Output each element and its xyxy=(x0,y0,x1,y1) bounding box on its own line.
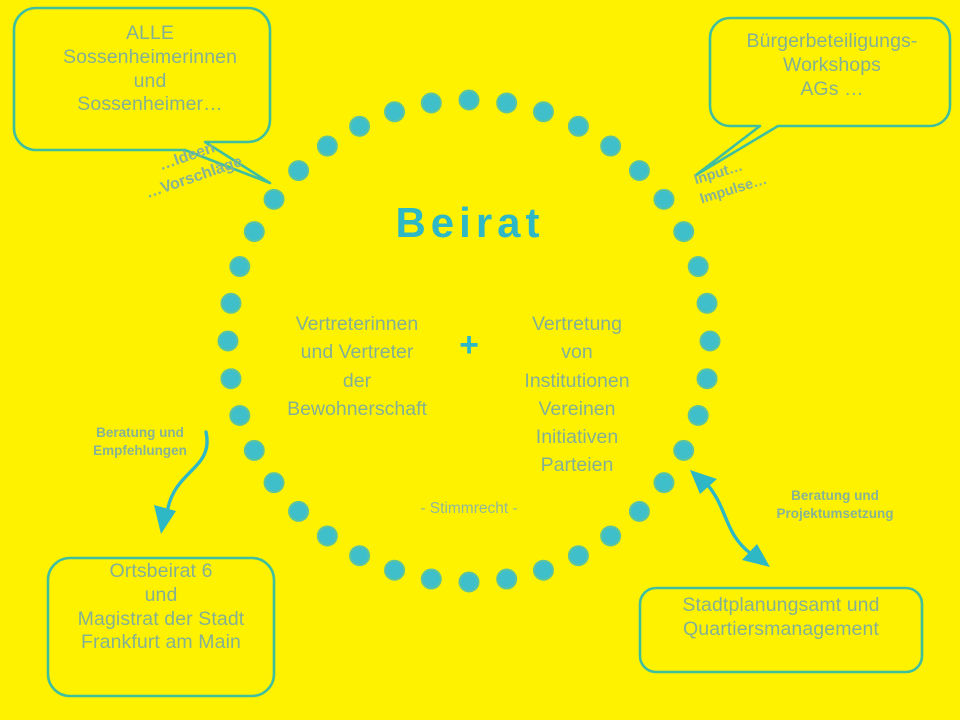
speech-bubble-citizens-label: ALLE Sossenheimerinnen und Sossenheimer… xyxy=(22,22,278,117)
ring-dot xyxy=(701,332,720,351)
ring-dot xyxy=(497,570,516,589)
ring-dot xyxy=(219,332,238,351)
ring-dot xyxy=(385,102,404,121)
ring-dot xyxy=(674,441,693,460)
plus-icon: + xyxy=(451,328,487,362)
ring-dot xyxy=(265,190,284,209)
ring-dot xyxy=(221,294,240,313)
box-ortsbeirat-label: Ortsbeirat 6 und Magistrat der Stadt Fra… xyxy=(48,560,274,655)
center-left-column: Vertreterinnen und Vertreter der Bewohne… xyxy=(272,310,442,423)
ring-dot xyxy=(569,117,588,136)
ring-dot xyxy=(460,91,479,110)
ring-dot xyxy=(534,102,553,121)
ring-dot xyxy=(689,257,708,276)
ring-dot xyxy=(350,546,369,565)
ring-dot xyxy=(385,561,404,580)
ring-dot xyxy=(460,573,479,592)
ring-dot xyxy=(350,117,369,136)
box-stadtplanungsamt-label: Stadtplanungsamt und Quartiersmanagement xyxy=(640,594,922,642)
ring-dot xyxy=(601,137,620,156)
ring-dot xyxy=(230,257,249,276)
ring-dot xyxy=(630,161,649,180)
ring-dot xyxy=(630,502,649,521)
ring-dot xyxy=(422,93,441,112)
ring-dot xyxy=(422,570,441,589)
ring-dot xyxy=(674,222,693,241)
center-footnote-stimmrecht: - Stimmrecht - xyxy=(369,500,569,518)
ring-dot xyxy=(601,526,620,545)
ring-dot xyxy=(318,137,337,156)
ring-dot xyxy=(221,369,240,388)
ring-dot xyxy=(497,93,516,112)
ring-dot xyxy=(265,473,284,492)
diagram-canvas: ALLE Sossenheimerinnen und Sossenheimer…… xyxy=(0,0,960,720)
ring-dot xyxy=(289,502,308,521)
ring-dot xyxy=(698,294,717,313)
ring-dot xyxy=(534,561,553,580)
flow-label-beratung-empfehlungen: Beratung und Empfehlungen xyxy=(50,424,230,460)
flow-label-beratung-projektumsetzung: Beratung und Projektumsetzung xyxy=(740,487,930,523)
speech-bubble-participation-label: Bürgerbeteiligungs- Workshops AGs … xyxy=(714,30,950,101)
page-title-beirat: Beirat xyxy=(300,199,640,247)
ring-dot xyxy=(654,190,673,209)
ring-dot xyxy=(318,526,337,545)
center-right-column: Vertretung von Institutionen Vereinen In… xyxy=(492,310,662,480)
ring-dot xyxy=(569,546,588,565)
ring-dot xyxy=(245,222,264,241)
ring-dot xyxy=(689,406,708,425)
ring-dot xyxy=(230,406,249,425)
ring-dot xyxy=(698,369,717,388)
ring-dot xyxy=(245,441,264,460)
ring-dot xyxy=(289,161,308,180)
